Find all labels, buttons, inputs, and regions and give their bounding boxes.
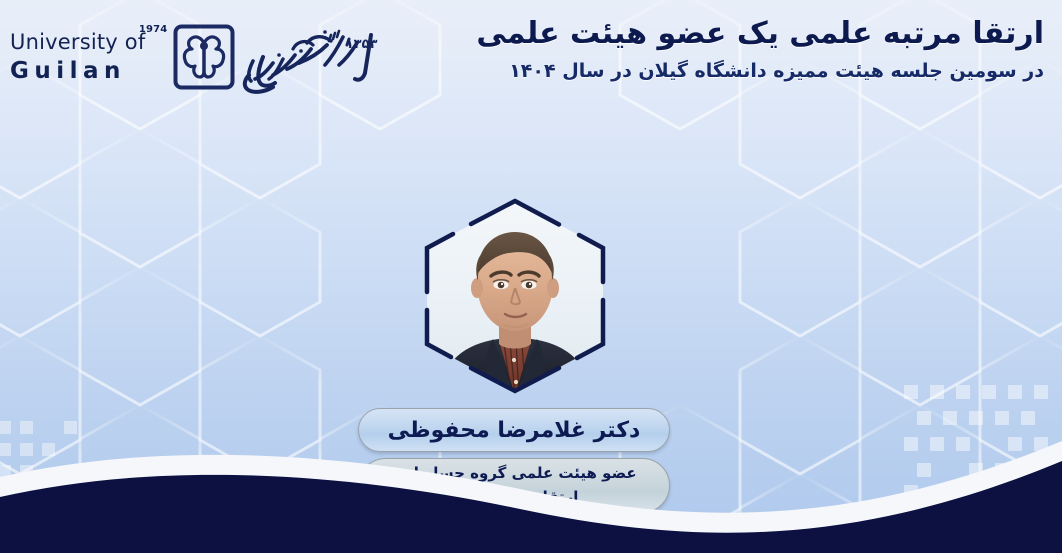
portrait-photo <box>407 196 623 396</box>
university-logo-english: University of 1974 Guilan <box>10 32 167 83</box>
logo-year-gregorian: 1974 <box>139 25 168 35</box>
page-title: ارتقا مرتبه علمی یک عضو هیئت علمی <box>476 16 1044 53</box>
university-logo: University of 1974 Guilan ۱۳۵۳ <box>10 14 379 100</box>
poster-titles: ارتقا مرتبه علمی یک عضو هیئت علمی در سوم… <box>476 16 1044 83</box>
university-logo-persian: ۱۳۵۳ <box>239 17 379 97</box>
persian-university-name-calligraphy-icon <box>239 17 379 97</box>
logo-english-line1: University of 1974 <box>10 32 167 53</box>
poster-header: University of 1974 Guilan ۱۳۵۳ <box>0 0 1062 128</box>
promotion-announcement-poster: University of 1974 Guilan ۱۳۵۳ <box>0 0 1062 553</box>
page-subtitle: در سومین جلسه هیئت ممیزه دانشگاه گیلان د… <box>476 59 1044 84</box>
logo-english-line1-text: University of <box>10 30 145 54</box>
logo-english-line2: Guilan <box>10 60 126 83</box>
logo-year-solar: ۱۳۵۳ <box>346 37 378 52</box>
guilan-university-emblem-icon <box>173 24 235 90</box>
portrait-container <box>407 196 623 396</box>
bottom-wave-decoration <box>0 413 1062 553</box>
